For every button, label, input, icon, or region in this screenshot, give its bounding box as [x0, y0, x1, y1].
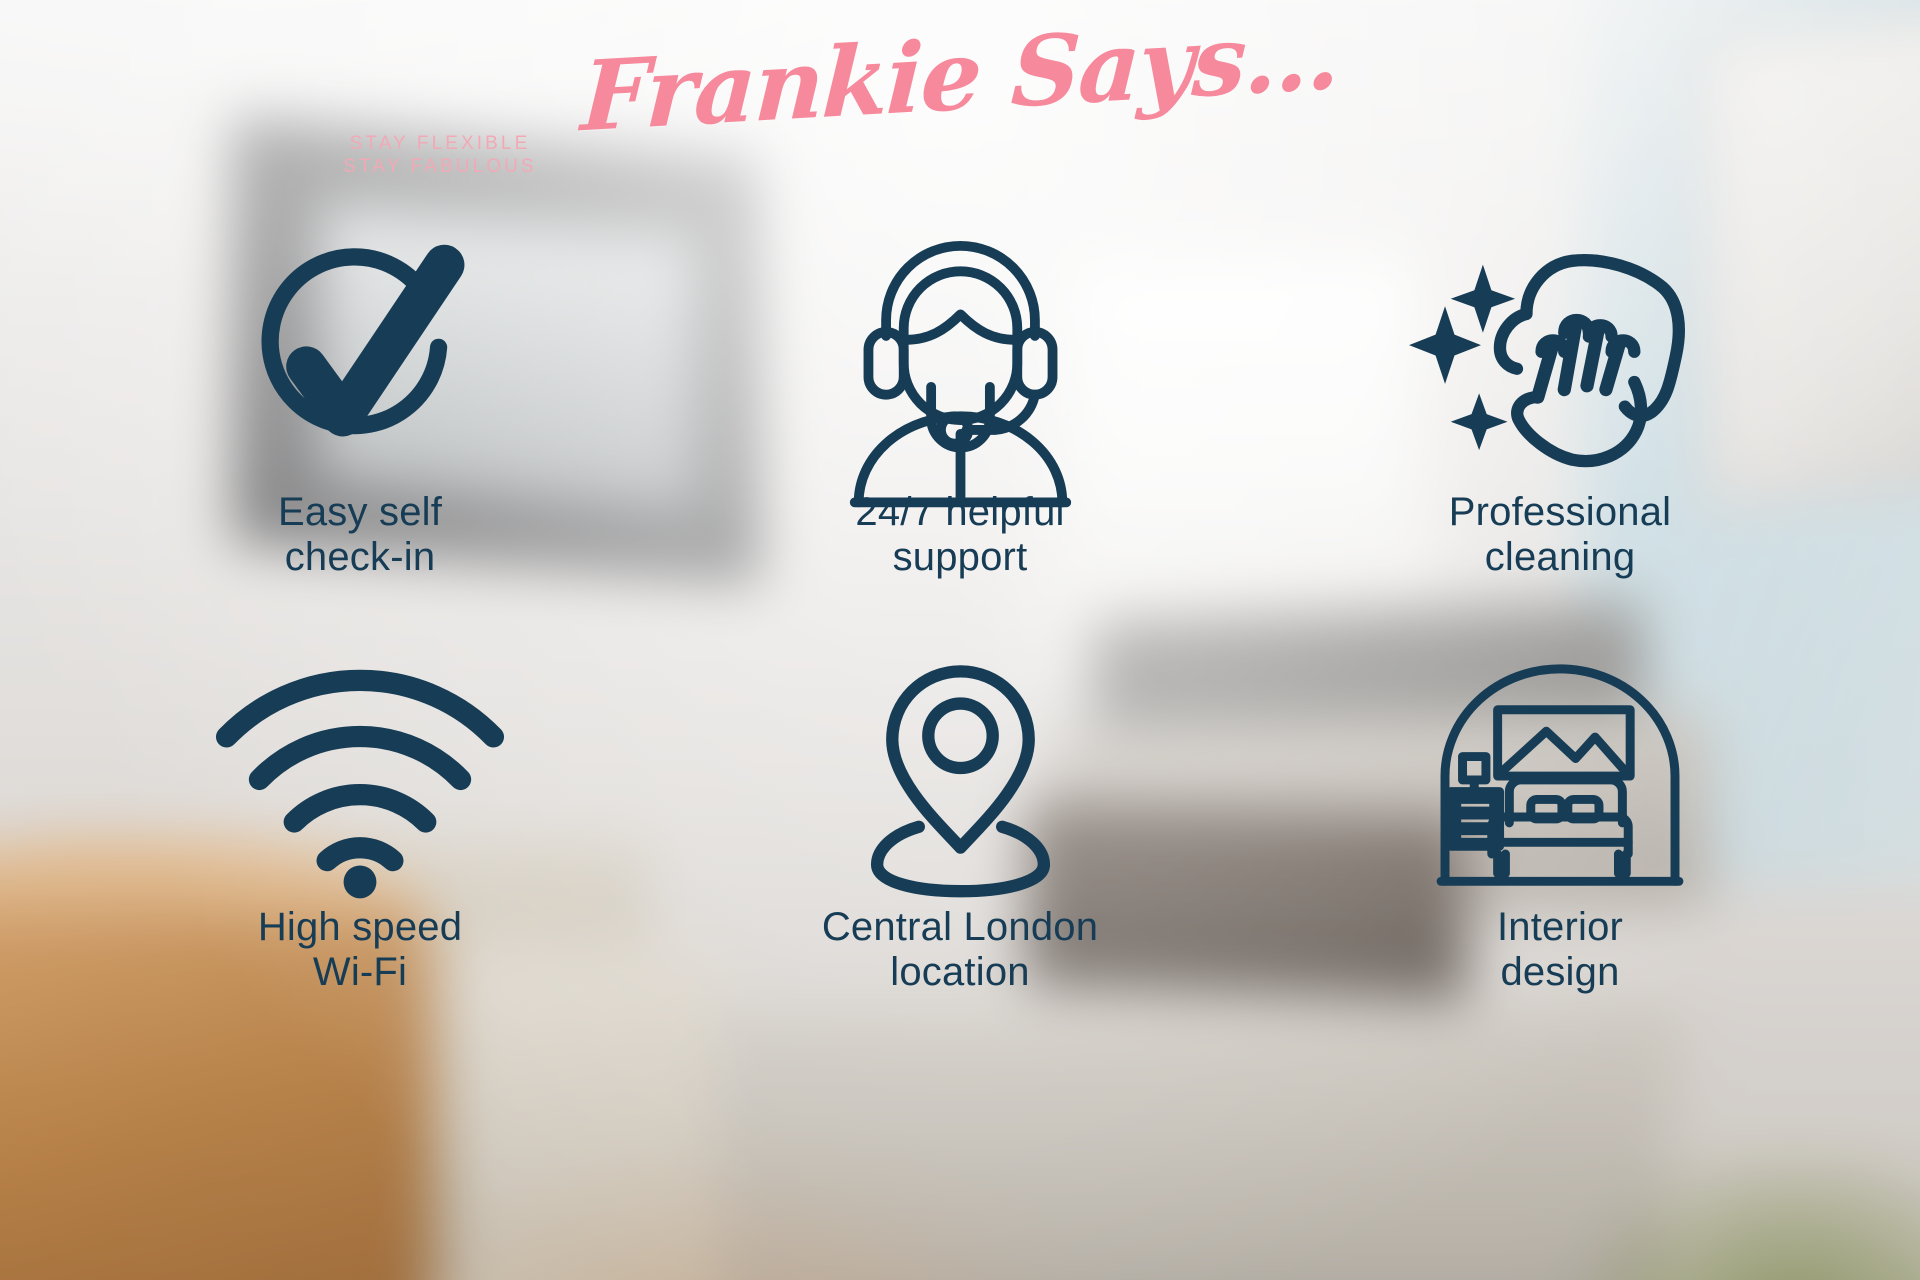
check-circle-icon	[245, 230, 475, 480]
feature-label: Central London location	[822, 905, 1098, 995]
brand-tagline: STAY FLEXIBLE STAY FABULOUS	[300, 132, 580, 178]
feature-label: 24/7 helpful support	[855, 490, 1064, 580]
feature-support: 24/7 helpful support	[660, 230, 1260, 630]
tagline-line-1: STAY FLEXIBLE	[300, 132, 580, 155]
map-pin-icon	[863, 660, 1058, 895]
bedroom-arch-icon	[1436, 660, 1684, 895]
feature-label: Easy self check-in	[278, 490, 442, 580]
feature-wifi: High speed Wi-Fi	[60, 660, 660, 1060]
feature-interior-design: Interior design	[1260, 660, 1860, 1060]
feature-grid: Easy self check-in	[60, 230, 1860, 1060]
headset-support-agent-icon	[843, 230, 1078, 480]
wifi-icon	[215, 660, 505, 895]
feature-label: High speed Wi-Fi	[258, 905, 462, 995]
brand-logo: Frankie Says... STAY FLEXIBLE STAY FABUL…	[0, 28, 1920, 178]
hand-wiping-sparkle-icon	[1428, 230, 1693, 480]
tagline-line-2: STAY FABULOUS	[300, 155, 580, 178]
brand-wordmark: Frankie Says...	[579, 7, 1341, 146]
feature-label: Professional cleaning	[1449, 490, 1672, 580]
feature-label: Interior design	[1497, 905, 1623, 995]
promo-graphic: Frankie Says... STAY FLEXIBLE STAY FABUL…	[0, 0, 1920, 1280]
feature-location: Central London location	[660, 660, 1260, 1060]
feature-cleaning: Professional cleaning	[1260, 230, 1860, 630]
feature-self-check-in: Easy self check-in	[60, 230, 660, 630]
